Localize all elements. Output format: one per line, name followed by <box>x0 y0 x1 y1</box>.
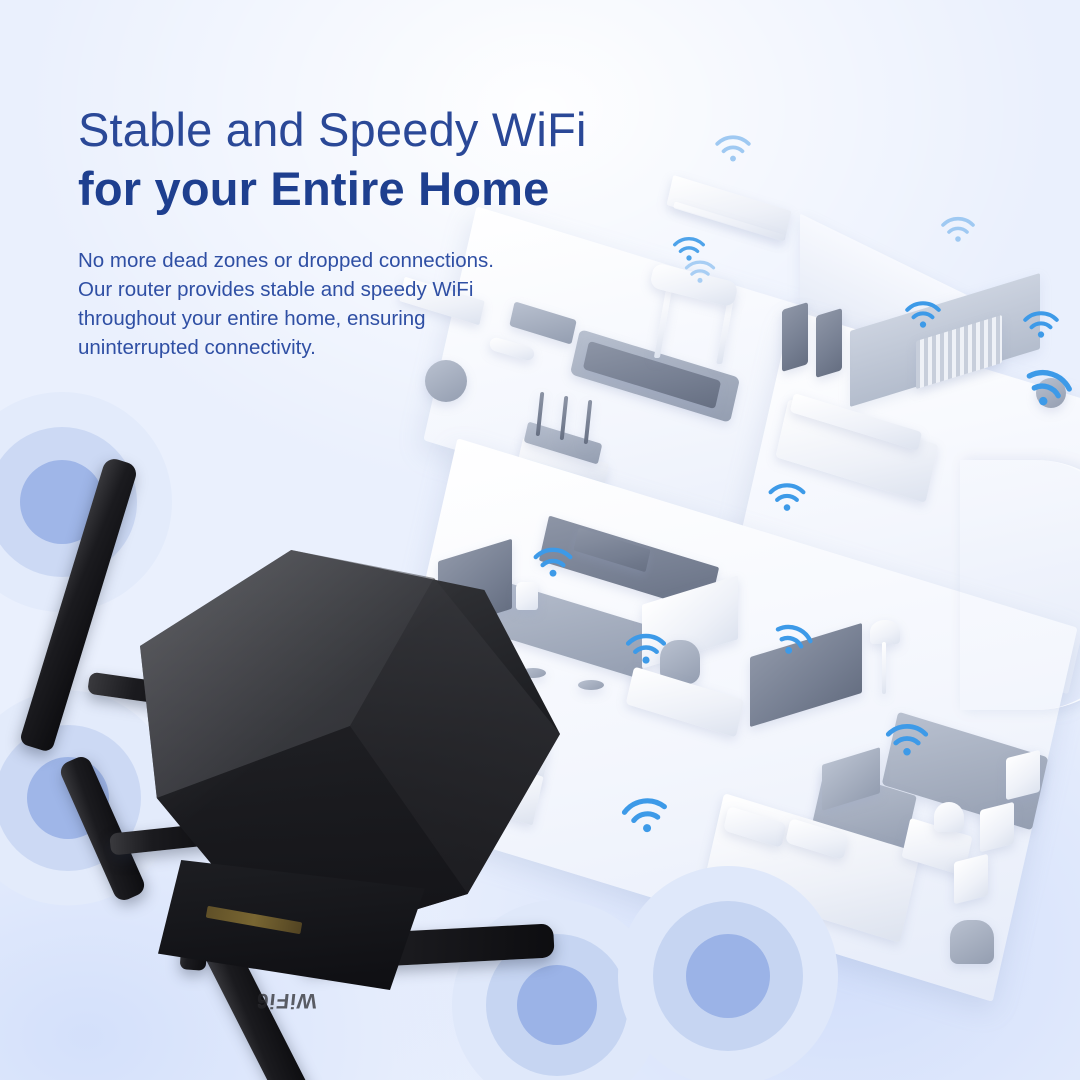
dining-chair-1 <box>1006 750 1040 800</box>
weight-plate <box>425 360 467 402</box>
signal-rings-bottom-right <box>618 866 838 1080</box>
router-antenna-lower-left <box>57 753 147 903</box>
copy-block: Stable and Speedy WiFi for your Entire H… <box>78 104 718 363</box>
wifi-icon-ac-top <box>712 130 754 164</box>
wall-art-left <box>782 302 808 372</box>
wifi6-router: WiFi6 <box>0 430 580 1070</box>
wifi-icon-bathroom <box>622 628 670 666</box>
body-copy-line-4: uninterrupted connectivity. <box>78 333 718 362</box>
router-antenna-upper-left <box>19 456 139 753</box>
balcony-rail <box>960 460 1080 710</box>
wifi-icon-living-center <box>765 478 809 513</box>
floor-lamp-shade <box>870 620 900 644</box>
headline-bold: for your Entire Home <box>78 161 718 216</box>
floor-lamp-pole <box>882 642 886 694</box>
potted-plant-lower <box>950 920 994 964</box>
poster-canvas: WiFi6 Stable and Speedy WiFi for your En… <box>0 0 1080 1080</box>
table-lamp <box>934 802 964 832</box>
body-copy-line-1: No more dead zones or dropped connection… <box>78 246 718 275</box>
headline-light: Stable and Speedy WiFi <box>78 104 718 157</box>
body-copy-line-2: Our router provides stable and speedy Wi… <box>78 275 718 304</box>
wifi-icon-office-left <box>902 296 944 330</box>
wifi-icon-nightstand <box>882 718 932 758</box>
body-copy-line-3: throughout your entire home, ensuring <box>78 304 718 333</box>
body-copy: No more dead zones or dropped connection… <box>78 246 718 362</box>
bar-stool-2 <box>578 680 604 690</box>
router-wifi6-badge: WiFi6 <box>255 988 318 1012</box>
wifi-icon-office-right <box>1020 306 1062 340</box>
dining-chair-3 <box>954 854 988 904</box>
wifi-icon-bathroom-lower <box>615 788 674 838</box>
wall-art-right <box>816 308 842 378</box>
dining-chair-2 <box>980 802 1014 852</box>
wifi-icon-balcony <box>938 212 978 244</box>
